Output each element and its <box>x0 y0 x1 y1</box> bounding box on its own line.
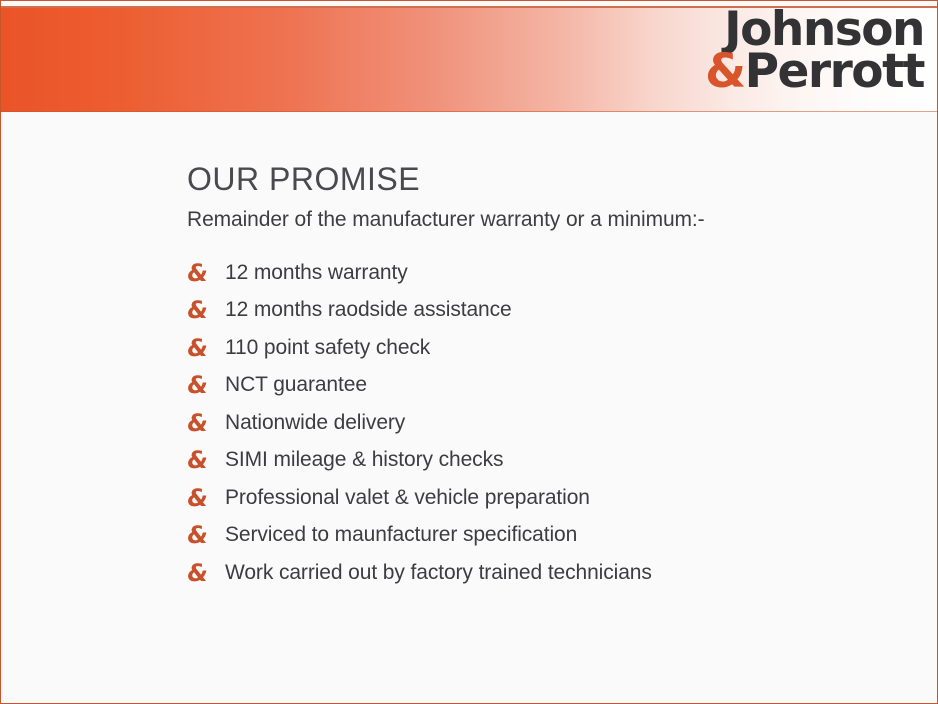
logo-line-perrott: &Perrott <box>705 49 924 95</box>
list-item: &12 months raodside assistance <box>187 292 917 330</box>
list-item-label: Professional valet & vehicle preparation <box>225 486 590 510</box>
ampersand-icon: & <box>186 261 227 285</box>
list-item: &NCT guarantee <box>187 367 917 405</box>
list-item: &110 point safety check <box>187 329 917 367</box>
list-item-label: Nationwide delivery <box>225 411 405 435</box>
page-title: OUR PROMISE <box>187 161 917 198</box>
list-item-label: NCT guarantee <box>225 373 367 397</box>
list-item-label: 12 months raodside assistance <box>225 298 512 322</box>
list-item: &Nationwide delivery <box>187 404 917 442</box>
johnson-and-perrott-logo: Johnson &Perrott <box>705 7 924 95</box>
promise-list: &12 months warranty&12 months raodside a… <box>187 254 917 592</box>
list-item-label: SIMI mileage & history checks <box>225 448 503 472</box>
list-item: &Professional valet & vehicle preparatio… <box>187 479 917 517</box>
list-item: &SIMI mileage & history checks <box>187 442 917 480</box>
list-item: &Work carried out by factory trained tec… <box>187 554 917 592</box>
ampersand-icon: & <box>186 561 227 585</box>
list-item-label: Work carried out by factory trained tech… <box>225 561 652 585</box>
logo-ampersand-icon: & <box>705 44 745 99</box>
ampersand-icon: & <box>186 448 227 472</box>
promise-content: OUR PROMISE Remainder of the manufacture… <box>187 161 917 592</box>
promise-slide: Johnson &Perrott OUR PROMISE Remainder o… <box>0 0 938 704</box>
list-item: &Serviced to maunfacturer specification <box>187 517 917 555</box>
ampersand-icon: & <box>186 298 227 322</box>
list-item-label: 12 months warranty <box>225 261 408 285</box>
page-subtitle: Remainder of the manufacturer warranty o… <box>187 208 917 232</box>
ampersand-icon: & <box>186 336 227 360</box>
ampersand-icon: & <box>186 523 227 547</box>
ampersand-icon: & <box>186 486 227 510</box>
ampersand-icon: & <box>186 411 227 435</box>
list-item-label: Serviced to maunfacturer specification <box>225 523 577 547</box>
list-item: &12 months warranty <box>187 254 917 292</box>
header-bottom-rule <box>1 111 937 112</box>
ampersand-icon: & <box>186 373 227 397</box>
list-item-label: 110 point safety check <box>225 336 430 360</box>
header-banner: Johnson &Perrott <box>1 1 937 114</box>
logo-perrott-text: Perrott <box>745 44 924 99</box>
